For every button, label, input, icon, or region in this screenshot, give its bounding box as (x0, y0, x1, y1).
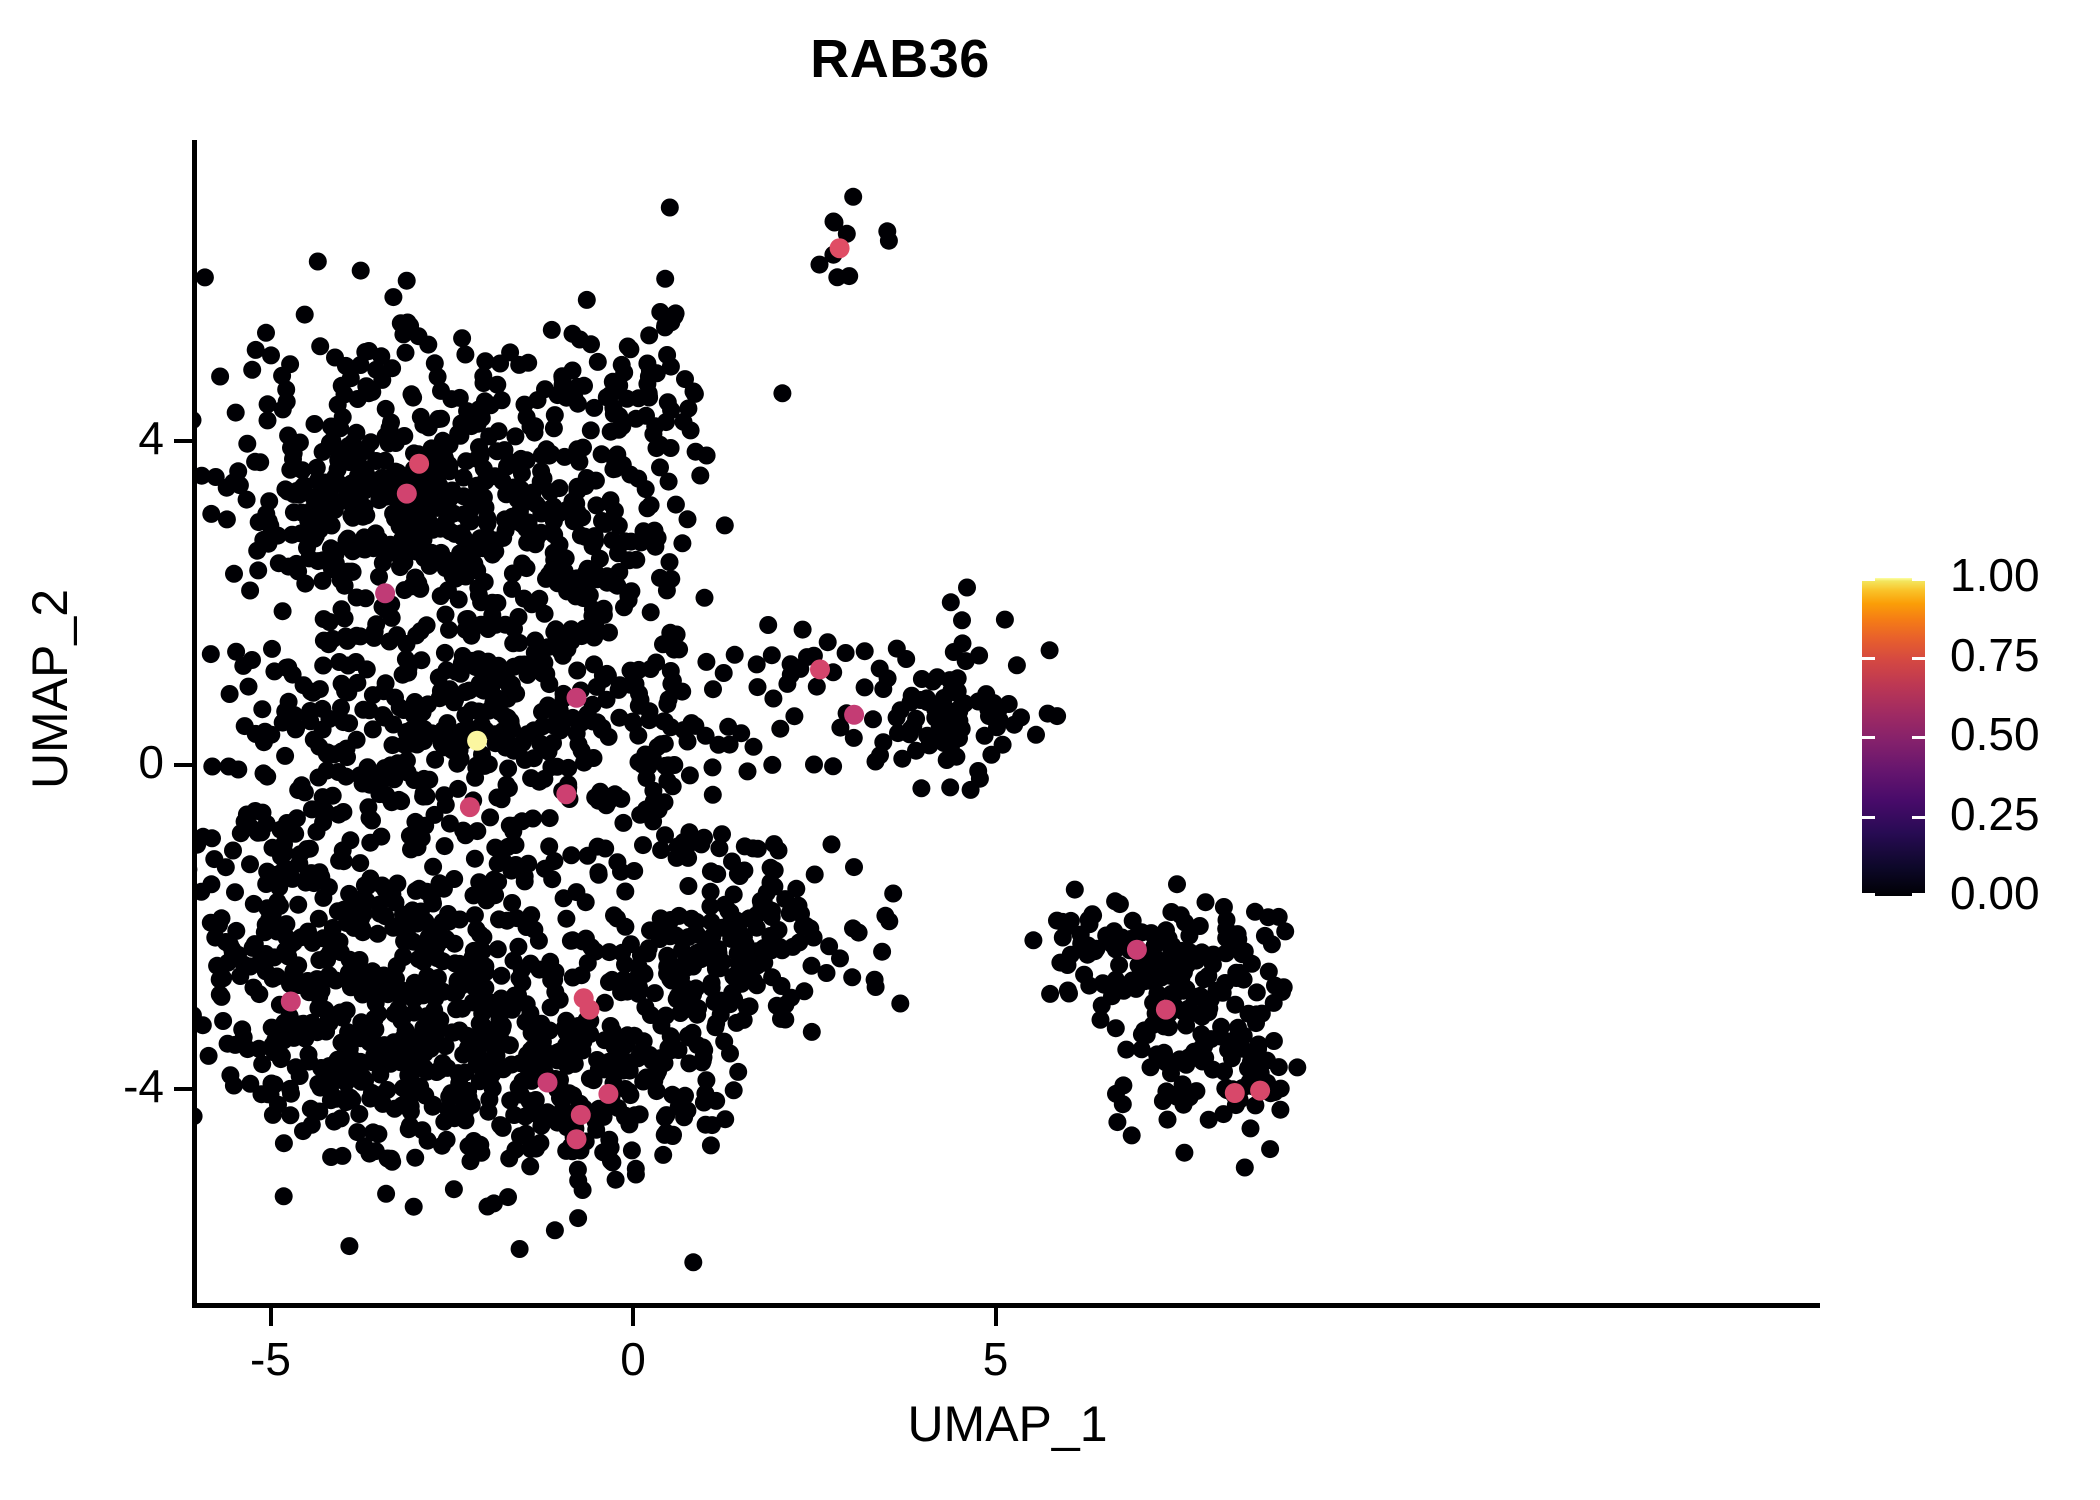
scatter-point (314, 572, 332, 590)
scatter-point (383, 1153, 401, 1171)
scatter-point (608, 853, 626, 871)
scatter-point (913, 670, 931, 688)
scatter-point (704, 680, 722, 698)
scatter-point (545, 419, 563, 437)
scatter-point (739, 762, 757, 780)
scatter-point (196, 268, 214, 286)
scatter-point (1041, 985, 1059, 1003)
scatter-point (679, 928, 697, 946)
scatter-point (264, 970, 282, 988)
scatter-point (358, 892, 376, 910)
scatter-point (657, 1124, 675, 1142)
scatter-point (546, 1221, 564, 1239)
scatter-point (462, 1152, 480, 1170)
scatter-point (404, 730, 422, 748)
scatter-point (203, 829, 221, 847)
scatter-point (229, 946, 247, 964)
scatter-point (390, 759, 408, 777)
scatter-point (472, 593, 490, 611)
scatter-point (545, 544, 563, 562)
scatter-point (1197, 893, 1215, 911)
scatter-point (745, 738, 763, 756)
scatter-point (1027, 726, 1045, 744)
scatter-point (702, 1136, 720, 1154)
scatter-point (880, 912, 898, 930)
scatter-point (500, 1149, 518, 1167)
scatter-point (436, 462, 454, 480)
scatter-point (642, 1006, 660, 1024)
colorbar-label-0: 1.00 (1950, 548, 2040, 602)
scatter-point (665, 756, 683, 774)
scatter-point (352, 459, 370, 477)
scatter-point (935, 734, 953, 752)
scatter-point (231, 476, 249, 494)
scatter-point (569, 378, 587, 396)
scatter-point (837, 644, 855, 662)
scatter-point (453, 329, 471, 347)
scatter-point (214, 1012, 232, 1030)
scatter-point-highlighted-11 (598, 1084, 618, 1104)
scatter-point (352, 262, 370, 280)
scatter-point (275, 835, 293, 853)
colorbar-label-4: 0.00 (1950, 866, 2040, 920)
scatter-point (321, 613, 339, 631)
scatter-point (403, 385, 421, 403)
page-title: RAB36 (0, 28, 1800, 90)
scatter-point (595, 606, 613, 624)
scatter-point (606, 460, 624, 478)
scatter-point (726, 921, 744, 939)
scatter-point (962, 781, 980, 799)
scatter-point (685, 383, 703, 401)
scatter-point (845, 858, 863, 876)
scatter-point (1196, 1049, 1214, 1067)
scatter-point (794, 621, 812, 639)
scatter-point (824, 757, 842, 775)
scatter-point (226, 883, 244, 901)
scatter-point (466, 850, 484, 868)
scatter-point (295, 477, 313, 495)
colorbar-tick-0-left (1862, 578, 1875, 581)
scatter-point (226, 1036, 244, 1054)
scatter-point (679, 510, 697, 528)
scatter-point (568, 724, 586, 742)
colorbar-tick-4-left (1862, 893, 1875, 896)
scatter-point (347, 653, 365, 671)
scatter-point (355, 498, 373, 516)
scatter-point (749, 678, 767, 696)
scatter-point (543, 870, 561, 888)
scatter-point (1148, 1045, 1166, 1063)
scatter-point (414, 953, 432, 971)
scatter-point (262, 346, 280, 364)
scatter-point (574, 439, 592, 457)
scatter-point (701, 932, 719, 950)
colorbar-tick-3-left (1862, 816, 1875, 819)
scatter-point (540, 675, 558, 693)
colorbar-tick-0-right (1912, 578, 1925, 581)
scatter-point (634, 836, 652, 854)
scatter-point (551, 701, 569, 719)
scatter-point (485, 1194, 503, 1212)
scatter-point (994, 736, 1012, 754)
scatter-point (867, 978, 885, 996)
scatter-point (449, 425, 467, 443)
scatter-point (681, 766, 699, 784)
scatter-point (475, 488, 493, 506)
scatter-point (437, 796, 455, 814)
scatter-point (1083, 905, 1101, 923)
scatter-point (773, 977, 791, 995)
scatter-point (530, 932, 548, 950)
scatter-point (803, 957, 821, 975)
scatter-point (888, 709, 906, 727)
scatter-point (969, 762, 987, 780)
scatter-point (398, 272, 416, 290)
scatter-point (656, 735, 674, 753)
scatter-point (662, 1041, 680, 1059)
scatter-point (335, 901, 353, 919)
scatter-point (673, 534, 691, 552)
scatter-point (884, 885, 902, 903)
scatter-point (462, 627, 480, 645)
scatter-point (468, 450, 486, 468)
scatter-point (503, 580, 521, 598)
scatter-point (211, 368, 229, 386)
scatter-point (803, 1023, 821, 1041)
scatter-point (706, 1018, 724, 1036)
scatter-point (459, 1039, 477, 1057)
scatter-point (473, 681, 491, 699)
scatter-point (415, 770, 433, 788)
scatter-point (405, 529, 423, 547)
scatter-point (702, 862, 720, 880)
scatter-point (426, 751, 444, 769)
scatter-point (392, 792, 410, 810)
scatter-point (499, 709, 517, 727)
scatter-point (607, 1171, 625, 1189)
scatter-point (254, 531, 272, 549)
scatter-point (485, 871, 503, 889)
scatter-point (330, 653, 348, 671)
scatter-point (542, 758, 560, 776)
scatter-point (488, 442, 506, 460)
scatter-point (615, 364, 633, 382)
scatter-point (440, 621, 458, 639)
scatter-point (516, 1108, 534, 1126)
scatter-point (510, 608, 528, 626)
scatter-point (795, 982, 813, 1000)
x-tick-label-1: 0 (573, 1332, 693, 1386)
scatter-point (416, 1087, 434, 1105)
scatter-point (457, 610, 475, 628)
scatter-point (276, 747, 294, 765)
scatter-point (1270, 1058, 1288, 1076)
scatter-point (491, 1116, 509, 1134)
scatter-point (586, 788, 604, 806)
scatter-point (648, 439, 666, 457)
scatter-point (600, 1131, 618, 1149)
scatter-point (470, 952, 488, 970)
colorbar-label-2: 0.50 (1950, 707, 2040, 761)
scatter-point (406, 569, 424, 587)
scatter-point (478, 891, 496, 909)
colorbar-label-3: 0.25 (1950, 787, 2040, 841)
scatter-point (249, 824, 267, 842)
scatter-point (1265, 994, 1283, 1012)
scatter-point (522, 769, 540, 787)
scatter-point (945, 643, 963, 661)
scatter-point (564, 1054, 582, 1072)
scatter-point (897, 650, 915, 668)
scatter-point (258, 899, 276, 917)
scatter-point (407, 626, 425, 644)
scatter-point (432, 544, 450, 562)
scatter-point (843, 968, 861, 986)
scatter-point (526, 632, 544, 650)
scatter-point (291, 1067, 309, 1085)
scatter-point (596, 1031, 614, 1049)
scatter-point (1242, 1119, 1260, 1137)
scatter-point (221, 685, 239, 703)
scatter-point (274, 602, 292, 620)
scatter-point (704, 786, 722, 804)
scatter-point (353, 920, 371, 938)
scatter-point (1133, 1040, 1151, 1058)
scatter-point (213, 988, 231, 1006)
scatter-point (279, 947, 297, 965)
scatter-point (610, 681, 628, 699)
scatter-point (1041, 641, 1059, 659)
scatter-point (600, 973, 618, 991)
scatter-point (771, 720, 789, 738)
scatter-point (867, 753, 885, 771)
scatter-point (323, 517, 341, 535)
colorbar-tick-2-right (1912, 736, 1925, 739)
scatter-point (808, 678, 826, 696)
scatter-point (542, 971, 560, 989)
scatter-point (336, 682, 354, 700)
scatter-point (386, 1005, 404, 1023)
scatter-point (420, 418, 438, 436)
scatter-point (542, 998, 560, 1016)
scatter-point (516, 656, 534, 674)
scatter-point (279, 427, 297, 445)
colorbar-tick-2-left (1862, 736, 1875, 739)
scatter-point (356, 876, 374, 894)
scatter-point (303, 1014, 321, 1032)
scatter-point (616, 918, 634, 936)
scatter-point (257, 324, 275, 342)
scatter-point (763, 756, 781, 774)
scatter-point (320, 878, 338, 896)
scatter-point (891, 995, 909, 1013)
scatter-point (856, 678, 874, 696)
scatter-point (425, 1001, 443, 1019)
scatter-point (630, 697, 648, 715)
scatter-point (1229, 1019, 1247, 1037)
scatter-point (310, 988, 328, 1006)
umap-feature-plot: RAB36 -50540-4 UMAP_1 UMAP_2 1.000.750.5… (0, 0, 2100, 1500)
scatter-point (684, 1253, 702, 1271)
scatter-point (1158, 957, 1176, 975)
scatter-point (351, 442, 369, 460)
scatter-point (405, 1198, 423, 1216)
scatter-point (504, 565, 522, 583)
scatter-point (1215, 898, 1233, 916)
scatter-point (763, 646, 781, 664)
scatter-point (384, 983, 402, 1001)
scatter-point (488, 1000, 506, 1018)
scatter-point (303, 1116, 321, 1134)
scatter-point (220, 758, 238, 776)
scatter-point (269, 1096, 287, 1114)
scatter-point-highlighted-12 (571, 1105, 591, 1125)
scatter-point (287, 719, 305, 737)
scatter-point (640, 386, 658, 404)
y-axis-title: UMAP_2 (21, 339, 79, 1039)
scatter-point (606, 502, 624, 520)
scatter-point (372, 828, 390, 846)
scatter-point (996, 611, 1014, 629)
scatter-point (290, 855, 308, 873)
scatter-point (227, 922, 245, 940)
scatter-point (1168, 875, 1186, 893)
scatter-point (593, 445, 611, 463)
scatter-point (468, 822, 486, 840)
scatter-point (679, 877, 697, 895)
scatter-point-highlighted-14 (810, 659, 830, 679)
scatter-point (564, 931, 582, 949)
scatter-point (466, 906, 484, 924)
scatter-point (574, 570, 592, 588)
scatter-point (451, 741, 469, 759)
scatter-point (655, 712, 673, 730)
scatter-point (471, 925, 489, 943)
scatter-point-highlighted-5 (567, 688, 587, 708)
scatter-point (519, 855, 537, 873)
scatter-point (339, 1023, 357, 1041)
scatter-point (278, 814, 296, 832)
scatter-point (266, 1031, 284, 1049)
scatter-point (658, 346, 676, 364)
scatter-point (348, 589, 366, 607)
scatter-point (227, 643, 245, 661)
scatter-point (259, 920, 277, 938)
scatter-point (436, 644, 454, 662)
scatter-point (326, 501, 344, 519)
scatter-point (1214, 984, 1232, 1002)
scatter-point (1263, 935, 1281, 953)
scatter-point (395, 932, 413, 950)
scatter-point (490, 910, 508, 928)
scatter-point (480, 755, 498, 773)
scatter-point (232, 824, 250, 842)
scatter-point (518, 995, 536, 1013)
scatter-point (1215, 1062, 1233, 1080)
scatter-point (831, 949, 849, 967)
scatter-point (1123, 1126, 1141, 1144)
scatter-point (334, 803, 352, 821)
y-axis-line (192, 140, 197, 1308)
colorbar-tick-3-right (1912, 816, 1925, 819)
scatter-point (436, 837, 454, 855)
scatter-point (317, 970, 335, 988)
scatter-point (878, 222, 896, 240)
scatter-point (301, 840, 319, 858)
scatter-point (495, 853, 513, 871)
scatter-point (697, 653, 715, 671)
scatter-point (1008, 656, 1026, 674)
scatter-point (543, 321, 561, 339)
scatter-point (241, 855, 259, 873)
scatter-point (672, 969, 690, 987)
scatter-point (553, 367, 571, 385)
scatter-point (338, 1087, 356, 1105)
scatter-point (613, 417, 631, 435)
x-axis-line (192, 1303, 1820, 1308)
colorbar-tick-1-right (1912, 657, 1925, 660)
scatter-point (249, 561, 267, 579)
scatter-point-highlighted-13 (567, 1129, 587, 1149)
scatter-point (770, 842, 788, 860)
scatter-point (600, 728, 618, 746)
scatter-point (488, 789, 506, 807)
scatter-point (575, 754, 593, 772)
scatter-point (654, 1146, 672, 1164)
scatter-point (471, 534, 489, 552)
scatter-point (675, 833, 693, 851)
scatter-point-highlighted-9 (580, 1000, 600, 1020)
scatter-point (263, 640, 281, 658)
scatter-point (1246, 1044, 1264, 1062)
scatter-point (661, 553, 679, 571)
scatter-point (414, 788, 432, 806)
scatter-point (698, 447, 716, 465)
scatter-point (296, 306, 314, 324)
scatter-point (208, 957, 226, 975)
scatter-point (409, 838, 427, 856)
scatter-point (614, 814, 632, 832)
scatter-point (1107, 1019, 1125, 1037)
scatter-point (1080, 945, 1098, 963)
scatter-point (624, 714, 642, 732)
scatter-point-highlighted-6 (556, 784, 576, 804)
scatter-point (501, 1091, 519, 1109)
scatter-point (1175, 1096, 1193, 1114)
scatter-point (280, 693, 298, 711)
scatter-point (946, 705, 964, 723)
scatter-point (386, 689, 404, 707)
scatter-point (351, 854, 369, 872)
scatter-point (569, 1017, 587, 1035)
scatter-point (759, 616, 777, 634)
scatter-point (472, 653, 490, 671)
scatter-point (902, 693, 920, 711)
scatter-point (498, 731, 516, 749)
scatter-point (384, 288, 402, 306)
scatter-point (536, 605, 554, 623)
scatter-point (364, 1053, 382, 1071)
scatter-point (490, 690, 508, 708)
scatter-point (536, 380, 554, 398)
scatter-point (1200, 1111, 1218, 1129)
scatter-point (823, 835, 841, 853)
scatter-point (433, 735, 451, 753)
scatter-point (660, 473, 678, 491)
scatter-point (736, 837, 754, 855)
scatter-point (683, 714, 701, 732)
